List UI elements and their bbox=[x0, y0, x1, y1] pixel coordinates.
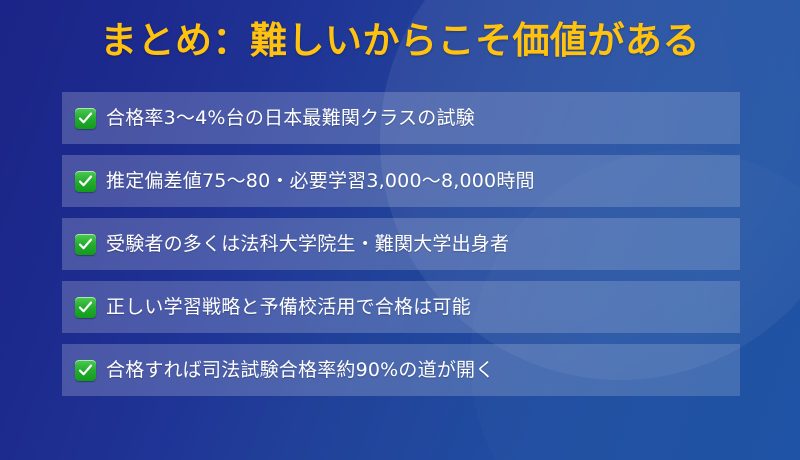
bullet-item: 正しい学習戦略と予備校活用で合格は可能 bbox=[62, 281, 740, 333]
bullet-item: 推定偏差値75〜80・必要学習3,000〜8,000時間 bbox=[62, 155, 740, 207]
white-check-mark-icon bbox=[75, 108, 96, 129]
white-check-mark-icon bbox=[75, 234, 96, 255]
bullet-item-label: 合格すれば司法試験合格率約90%の道が開く bbox=[106, 358, 494, 382]
white-check-mark-icon bbox=[75, 360, 96, 381]
bullet-list: 合格率3〜4%台の日本最難関クラスの試験 推定偏差値75〜80・必要学習3,00… bbox=[62, 92, 740, 407]
bullet-item-label: 推定偏差値75〜80・必要学習3,000〜8,000時間 bbox=[106, 169, 535, 193]
slide-title: まとめ：難しいからこそ価値がある bbox=[0, 18, 800, 64]
bullet-item: 受験者の多くは法科大学院生・難関大学出身者 bbox=[62, 218, 740, 270]
bullet-item-label: 正しい学習戦略と予備校活用で合格は可能 bbox=[106, 295, 471, 319]
bullet-item-label: 受験者の多くは法科大学院生・難関大学出身者 bbox=[106, 232, 509, 256]
white-check-mark-icon bbox=[75, 297, 96, 318]
bullet-item: 合格率3〜4%台の日本最難関クラスの試験 bbox=[62, 92, 740, 144]
white-check-mark-icon bbox=[75, 171, 96, 192]
bullet-item: 合格すれば司法試験合格率約90%の道が開く bbox=[62, 344, 740, 396]
summary-slide: まとめ：難しいからこそ価値がある 合格率3〜4%台の日本最難関クラスの試験 推定… bbox=[0, 0, 800, 460]
bullet-item-label: 合格率3〜4%台の日本最難関クラスの試験 bbox=[106, 106, 475, 130]
